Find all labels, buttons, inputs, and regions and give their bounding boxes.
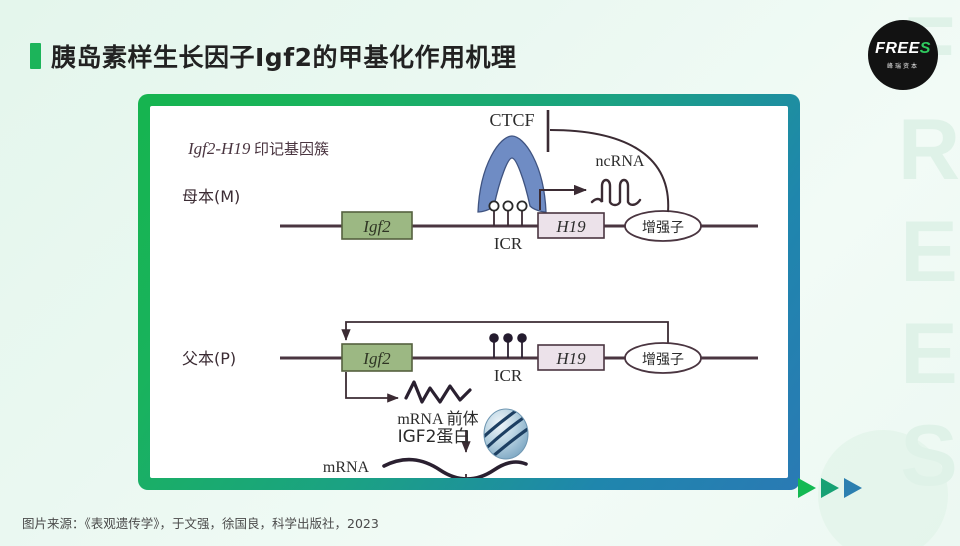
logo-subtitle: 峰瑞资本 [887, 61, 919, 70]
brand-logo: FREES 峰瑞资本 [868, 20, 938, 90]
title-bullet-icon [30, 43, 41, 69]
igf2-protein-label: IGF2蛋白 [398, 422, 471, 447]
title-label: 胰岛素样生长因子Igf2的甲基化作用机理 [51, 38, 516, 74]
triangle-arrow-1-icon [798, 478, 816, 498]
igf2-protein-sphere-icon [480, 406, 532, 462]
source-caption: 图片来源：《表观遗传学》，于文强，徐国良，科学出版社，2023 [22, 513, 379, 532]
slide-canvas: FREES FUND 胰岛素样生长因子Igf2的甲基化作用机理 FREES 峰瑞… [0, 0, 960, 546]
triangle-arrow-3-icon [844, 478, 862, 498]
decor-arrows [798, 478, 862, 498]
logo-wordmark: FREES [875, 41, 931, 57]
figure-canvas: Igf2-H19 印记基因簇 母本(M) Igf2 CTCF [150, 106, 788, 478]
figure-frame: Igf2-H19 印记基因簇 母本(M) Igf2 CTCF [138, 94, 800, 490]
logo-word-main: FREE [875, 40, 920, 57]
igf2-protein-row: IGF2蛋白 [150, 406, 788, 462]
page-title: 胰岛素样生长因子Igf2的甲基化作用机理 [30, 38, 516, 74]
logo-word-accent: S [920, 40, 931, 57]
triangle-arrow-2-icon [821, 478, 839, 498]
